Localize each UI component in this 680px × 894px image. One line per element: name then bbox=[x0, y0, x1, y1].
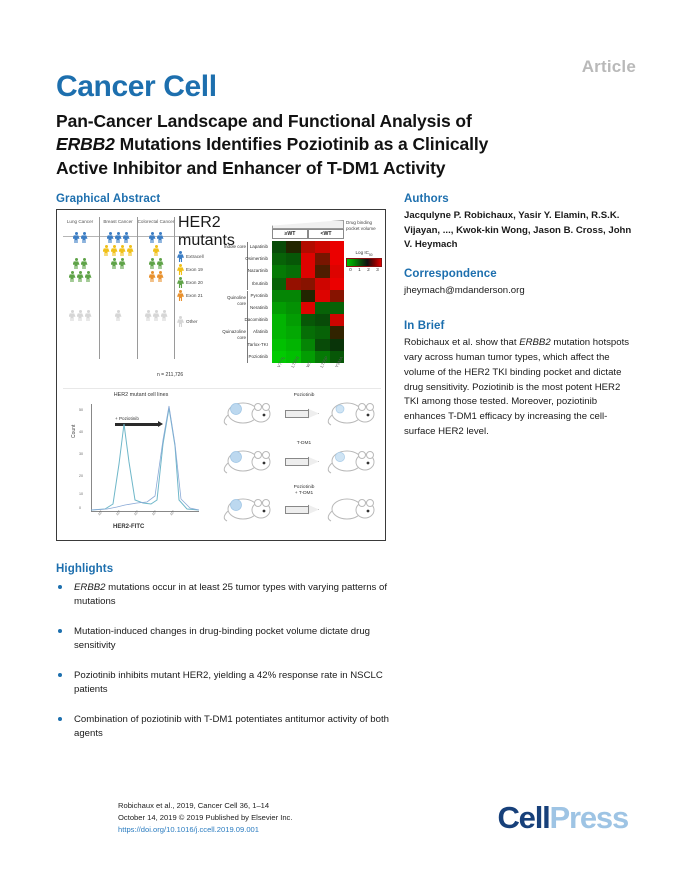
picto-row bbox=[99, 310, 137, 323]
heatmap-cell bbox=[315, 241, 329, 253]
heatmap-cell bbox=[315, 253, 329, 265]
heatmap-cell bbox=[301, 253, 315, 265]
picto-row bbox=[61, 271, 99, 284]
mouse-treatment-row: T-DM1 bbox=[223, 442, 383, 484]
picto-row bbox=[137, 284, 175, 297]
pictogram-chart: Lung Cancer Breast Cancer bbox=[61, 214, 219, 386]
doi-link[interactable]: https://doi.org/10.1016/j.ccell.2019.09.… bbox=[118, 824, 292, 836]
heatmap-cell bbox=[272, 302, 286, 314]
treatment-label-combination: Poziotinib + T-DM1 bbox=[281, 485, 327, 497]
legend-tick: 1 bbox=[358, 268, 361, 273]
authors-list: Jacqulyne P. Robichaux, Yasir Y. Elamin,… bbox=[404, 209, 636, 253]
highlight-gene: ERBB2 bbox=[74, 582, 105, 593]
legend-item: Exon 21 bbox=[177, 289, 225, 302]
treatment-arrow-icon bbox=[285, 454, 319, 469]
legend-label-extracell: Extracell bbox=[186, 254, 204, 259]
treatment-label-poziotinib: Poziotinib bbox=[281, 393, 327, 399]
graphical-abstract-figure: Lung Cancer Breast Cancer bbox=[56, 209, 386, 541]
picto-row bbox=[137, 258, 175, 271]
heatmap-cell bbox=[315, 314, 329, 326]
heatmap-cell bbox=[315, 265, 329, 277]
picto-row bbox=[137, 245, 175, 258]
heatmap-row-label: Tarlox-TKI bbox=[220, 339, 270, 351]
picto-row bbox=[137, 271, 175, 284]
x-tick: 10⁶ bbox=[169, 510, 175, 517]
heatmap-cell bbox=[330, 339, 344, 351]
bullet-icon bbox=[58, 629, 62, 633]
authors-heading: Authors bbox=[404, 193, 449, 205]
heatmap-column-label: WT bbox=[305, 360, 312, 368]
heatmap-cell bbox=[330, 278, 344, 290]
highlight-body: mutations occur in at least 25 tumor typ… bbox=[74, 582, 387, 607]
mouse-treatment-row: Poziotinib + T-DM1 bbox=[223, 490, 383, 532]
picto-row bbox=[137, 232, 175, 245]
heatmap-cells bbox=[272, 241, 344, 363]
treatment-label-tdm1: T-DM1 bbox=[281, 441, 327, 447]
heatmap-cell bbox=[286, 339, 300, 351]
highlight-item: Combination of poziotinib with T-DM1 pot… bbox=[58, 713, 393, 742]
citation-line: Robichaux et al., 2019, Cancer Cell 36, … bbox=[118, 800, 292, 812]
x-tick: 10⁵ bbox=[151, 509, 157, 516]
heatmap-cell bbox=[301, 302, 315, 314]
heatmap-cell bbox=[272, 314, 286, 326]
legend-item: Exon 19 bbox=[177, 263, 225, 276]
heatmap-row-label: Ibrutinib bbox=[220, 278, 270, 290]
logo-cell-text: Cell bbox=[497, 800, 549, 835]
journal-cover-page: Article Cancer Cell Pan-Cancer Landscape… bbox=[0, 0, 680, 894]
in-brief-pre: Robichaux et al. show that bbox=[404, 337, 519, 348]
picto-row bbox=[61, 258, 99, 271]
drug-sensitivity-heatmap: ≥WT <WT Drug binding pocket volume Indol… bbox=[220, 214, 384, 386]
mouse-after-icon bbox=[327, 492, 379, 524]
heatmap-cell bbox=[286, 265, 300, 277]
bullet-icon bbox=[58, 673, 62, 677]
title-line-3: Active Inhibitor and Enhancer of T-DM1 A… bbox=[56, 158, 445, 178]
treatment-arrow-icon bbox=[285, 406, 319, 421]
flow-histogram-curves bbox=[91, 404, 199, 512]
heatmap-cell bbox=[315, 302, 329, 314]
mouse-xenograft-diagram: Poziotinib T-DM1 bbox=[223, 394, 383, 540]
heatmap-cell bbox=[272, 265, 286, 277]
graphical-abstract-heading: Graphical Abstract bbox=[56, 193, 160, 205]
legend-tick: 0 bbox=[349, 268, 352, 273]
heatmap-cell bbox=[301, 278, 315, 290]
heatmap-cell bbox=[301, 326, 315, 338]
in-brief-heading: In Brief bbox=[404, 320, 444, 332]
correspondence-email[interactable]: jheymach@mdanderson.org bbox=[404, 284, 636, 299]
heatmap-cell bbox=[301, 241, 315, 253]
highlight-text: Poziotinib inhibits mutant HER2, yieldin… bbox=[58, 669, 393, 698]
heatmap-header-lt-wt: <WT bbox=[308, 229, 344, 239]
heatmap-row-label: Lapatinib bbox=[220, 241, 270, 253]
legend-item: Extracell bbox=[177, 250, 225, 263]
heatmap-row-label: Poziotinib bbox=[220, 351, 270, 363]
flow-cytometry-chart: HER2 mutant cell lines Count HER2-FITC +… bbox=[65, 392, 217, 538]
cell-press-logo: CellPress bbox=[497, 800, 628, 836]
mouse-after-icon bbox=[327, 444, 379, 476]
pictogram-legend: HER2 mutants Extracell Exon 19 Exon 20 E… bbox=[177, 214, 225, 328]
flow-y-axis-label: Count bbox=[71, 425, 77, 438]
sample-size-label: n = 211,726 bbox=[157, 372, 183, 378]
heatmap-row-label: Neratinib bbox=[220, 302, 270, 314]
y-tick: 20 bbox=[79, 474, 83, 478]
heatmap-cell bbox=[286, 290, 300, 302]
publication-line: October 14, 2019 © 2019 Published by Els… bbox=[118, 812, 292, 824]
picto-row bbox=[99, 258, 137, 271]
correspondence-heading: Correspondence bbox=[404, 268, 497, 280]
pictogram-column-lung: Lung Cancer bbox=[61, 214, 99, 364]
highlights-heading: Highlights bbox=[56, 563, 113, 575]
heatmap-cell bbox=[272, 290, 286, 302]
heatmap-row-label: Pyrotinib bbox=[220, 290, 270, 302]
legend-label-exon21: Exon 21 bbox=[186, 293, 203, 298]
in-brief-post: mutation hotspots vary across human tumo… bbox=[404, 337, 629, 437]
y-tick: 40 bbox=[79, 430, 83, 434]
column-header-breast: Breast Cancer bbox=[99, 214, 137, 232]
picto-row bbox=[99, 297, 137, 310]
legend-scale-ticks: 0 1 2 3 bbox=[346, 268, 382, 273]
heatmap-cell bbox=[330, 290, 344, 302]
title-line-1: Pan-Cancer Landscape and Functional Anal… bbox=[56, 111, 472, 131]
heatmap-cell bbox=[286, 302, 300, 314]
y-tick: 30 bbox=[79, 452, 83, 456]
heatmap-cell bbox=[286, 241, 300, 253]
picto-row bbox=[137, 297, 175, 310]
y-tick: 0 bbox=[79, 506, 81, 510]
heatmap-cell bbox=[330, 241, 344, 253]
bullet-icon bbox=[58, 717, 62, 721]
x-tick: 10⁴ bbox=[133, 509, 139, 516]
column-header-colorectal: Colorectal Cancer bbox=[137, 214, 175, 232]
legend-item: Other bbox=[177, 315, 225, 328]
figure-top-half: Lung Cancer Breast Cancer bbox=[57, 210, 386, 388]
heatmap-cell bbox=[272, 241, 286, 253]
picto-row bbox=[61, 310, 99, 323]
legend-item: Exon 20 bbox=[177, 276, 225, 289]
heatmap-header-ge-wt: ≥WT bbox=[272, 229, 308, 239]
x-tick: 10² bbox=[97, 510, 103, 517]
picto-row bbox=[61, 284, 99, 297]
picto-row bbox=[99, 284, 137, 297]
legend-tick: 3 bbox=[376, 268, 379, 273]
picto-row bbox=[99, 232, 137, 245]
mouse-after-icon bbox=[327, 396, 379, 428]
picto-row bbox=[99, 245, 137, 258]
heatmap-cell bbox=[330, 253, 344, 265]
figure-bottom-half: HER2 mutant cell lines Count HER2-FITC +… bbox=[57, 388, 386, 541]
heatmap-cell bbox=[330, 326, 344, 338]
heatmap-cell bbox=[286, 278, 300, 290]
heatmap-cell bbox=[315, 339, 329, 351]
paper-title: Pan-Cancer Landscape and Functional Anal… bbox=[56, 110, 628, 180]
pictogram-column-colorectal: Colorectal Cancer bbox=[137, 214, 175, 364]
y-tick: 10 bbox=[79, 492, 83, 496]
heatmap-cell bbox=[272, 278, 286, 290]
mouse-treatment-row: Poziotinib bbox=[223, 394, 383, 436]
legend-label-other: Other bbox=[186, 319, 198, 324]
heatmap-row-label: Osimertinib bbox=[220, 253, 270, 265]
heatmap-cell bbox=[315, 290, 329, 302]
highlight-item: Mutation-induced changes in drug-binding… bbox=[58, 625, 393, 654]
column-header-her2: HER2 mutants bbox=[177, 214, 225, 250]
mouse-before-icon bbox=[223, 396, 275, 428]
picto-row bbox=[61, 232, 99, 245]
heatmap-cell bbox=[330, 265, 344, 277]
pictogram-column-breast: Breast Cancer bbox=[99, 214, 137, 364]
in-brief-gene: ERBB2 bbox=[519, 337, 550, 348]
picto-row bbox=[61, 297, 99, 310]
x-tick: 10³ bbox=[115, 510, 121, 517]
heatmap-legend: Log IC50 0 1 2 3 bbox=[346, 250, 382, 273]
heatmap-cell bbox=[272, 326, 286, 338]
footer-citation-block: Robichaux et al., 2019, Cancer Cell 36, … bbox=[118, 800, 292, 835]
heatmap-row-label: Nazartinib bbox=[220, 265, 270, 277]
legend-label-exon19: Exon 19 bbox=[186, 267, 203, 272]
highlight-text: Mutation-induced changes in drug-binding… bbox=[58, 625, 393, 654]
legend-label-exon20: Exon 20 bbox=[186, 280, 203, 285]
in-brief-text: Robichaux et al. show that ERBB2 mutatio… bbox=[404, 336, 636, 440]
bullet-icon bbox=[58, 585, 62, 589]
legend-tick: 2 bbox=[367, 268, 370, 273]
logo-press-text: Press bbox=[550, 800, 628, 835]
picto-row bbox=[137, 310, 175, 323]
heatmap-row-labels: Lapatinib Osimertinib Nazartinib Ibrutin… bbox=[220, 241, 270, 363]
heatmap-cell bbox=[301, 290, 315, 302]
heatmap-row-label: Dacomitinib bbox=[220, 314, 270, 326]
heatmap-cell bbox=[272, 253, 286, 265]
heatmap-cell bbox=[286, 314, 300, 326]
highlight-text: ERBB2 mutations occur in at least 25 tum… bbox=[58, 581, 393, 610]
heatmap-cell bbox=[301, 314, 315, 326]
heatmap-column-labels: V777LL755SWTL755PYVMA bbox=[272, 364, 344, 386]
heatmap-cell bbox=[301, 265, 315, 277]
heatmap-cell bbox=[272, 339, 286, 351]
heatmap-row-label: Afatinib bbox=[220, 326, 270, 338]
treatment-arrow-icon bbox=[285, 502, 319, 517]
mouse-before-icon bbox=[223, 444, 275, 476]
y-tick: 50 bbox=[79, 408, 83, 412]
article-type-label: Article bbox=[582, 57, 636, 77]
heatmap-cell bbox=[330, 302, 344, 314]
heatmap-cell bbox=[286, 326, 300, 338]
picto-row bbox=[99, 271, 137, 284]
flow-x-axis-label: HER2-FITC bbox=[113, 524, 144, 530]
heatmap-cell bbox=[315, 326, 329, 338]
highlight-item: Poziotinib inhibits mutant HER2, yieldin… bbox=[58, 669, 393, 698]
column-header-lung: Lung Cancer bbox=[61, 214, 99, 232]
heatmap-volume-caption: Drug binding pocket volume bbox=[346, 220, 384, 232]
journal-title: Cancer Cell bbox=[56, 70, 217, 104]
title-gene-name: ERBB2 bbox=[56, 134, 115, 154]
picto-row bbox=[61, 245, 99, 258]
flow-chart-title: HER2 mutant cell lines bbox=[65, 392, 217, 398]
title-line-2: Mutations Identifies Poziotinib as a Cli… bbox=[115, 134, 488, 154]
pocket-volume-wedge-icon bbox=[272, 220, 344, 229]
heatmap-cell bbox=[315, 278, 329, 290]
heatmap-cell bbox=[286, 253, 300, 265]
heatmap-cell bbox=[330, 314, 344, 326]
heatmap-cell bbox=[301, 339, 315, 351]
mouse-before-icon bbox=[223, 492, 275, 524]
heatmap-column-headers: ≥WT <WT bbox=[272, 229, 344, 239]
highlight-item: ERBB2 mutations occur in at least 25 tum… bbox=[58, 581, 393, 610]
legend-title-log-ic50: Log IC50 bbox=[346, 250, 382, 257]
legend-gradient-bar bbox=[346, 258, 382, 267]
highlight-text: Combination of poziotinib with T-DM1 pot… bbox=[58, 713, 393, 742]
